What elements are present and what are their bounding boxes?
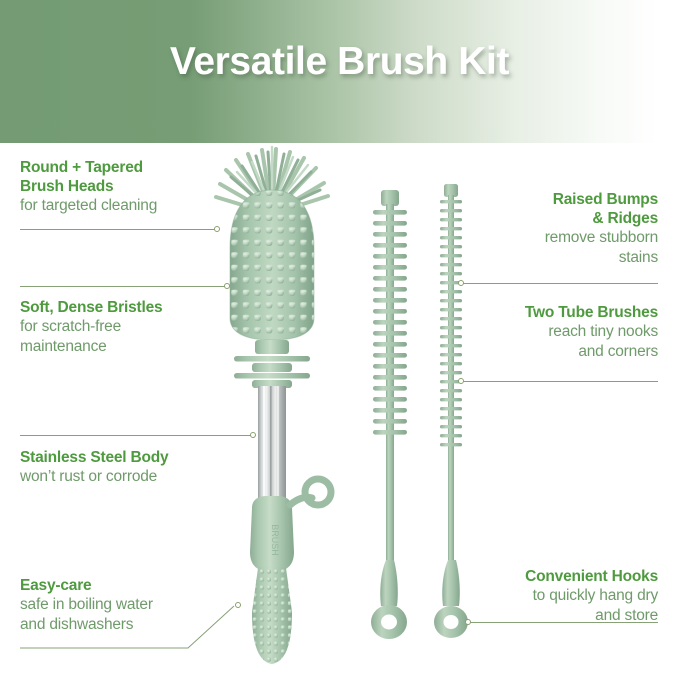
stainless-steel-rod (258, 386, 286, 508)
callout-brush-heads-heading-line2: Brush Heads (20, 177, 220, 196)
callout-bumps-ridges-sub-line2: stains (428, 248, 658, 268)
handle-emboss: BRUSH (270, 524, 280, 556)
callout-stainless-heading: Stainless Steel Body (20, 448, 240, 467)
callout-stainless-sub: won’t rust or corrode (20, 467, 240, 487)
callout-hooks-heading: Convenient Hooks (418, 567, 658, 586)
leader-dot-bristles (224, 283, 230, 289)
leader-line-tube-brushes (463, 381, 658, 382)
callout-bumps-ridges-heading-line2: & Ridges (428, 209, 658, 228)
handle-hang-loop (290, 479, 331, 505)
leader-dot-easy-care (235, 602, 241, 608)
callout-brush-heads: Round + Tapered Brush Heads for targeted… (20, 158, 220, 216)
callout-tube-brushes-sub-line2: and corners (428, 342, 658, 362)
callout-brush-heads-sub: for targeted cleaning (20, 196, 220, 216)
callout-stainless: Stainless Steel Body won’t rust or corro… (20, 448, 240, 487)
callout-bristles-heading: Soft, Dense Bristles (20, 298, 230, 317)
leader-line-stainless (20, 435, 252, 436)
callout-tube-brushes: Two Tube Brushes reach tiny nooks and co… (428, 303, 658, 361)
callout-hooks: Convenient Hooks to quickly hang dry and… (418, 567, 658, 625)
brush-collar (255, 340, 289, 354)
leader-dot-hooks (465, 619, 471, 625)
tube-brush-large-cap (381, 190, 399, 206)
callout-tube-brushes-heading: Two Tube Brushes (428, 303, 658, 322)
tube-brush-large-shaft (386, 204, 394, 604)
leader-line-brush-heads (20, 229, 216, 230)
leader-line-bumps-ridges (463, 283, 658, 284)
callout-bumps-ridges-heading-line1: Raised Bumps (428, 190, 658, 209)
callout-bristles-sub-line1: for scratch-free (20, 317, 230, 337)
tube-brush-large-ridges (373, 210, 407, 435)
callout-tube-brushes-sub-line1: reach tiny nooks (428, 322, 658, 342)
leader-dot-bumps-ridges (458, 280, 464, 286)
leader-line-hooks (470, 622, 658, 623)
leader-line-easy-care (0, 590, 260, 660)
leader-dot-stainless (250, 432, 256, 438)
tube-brush-large-hook (371, 560, 407, 639)
collar-ridges (234, 356, 310, 388)
callout-bristles: Soft, Dense Bristles for scratch-free ma… (20, 298, 230, 356)
callout-hooks-sub-line1: to quickly hang dry (418, 586, 658, 606)
callout-bumps-ridges-sub-line1: remove stubborn (428, 228, 658, 248)
leader-dot-tube-brushes (458, 378, 464, 384)
leader-dot-brush-heads (214, 226, 220, 232)
leader-line-bristles (20, 286, 226, 287)
callout-bumps-ridges: Raised Bumps & Ridges remove stubborn st… (428, 190, 658, 267)
tube-brush-large (371, 190, 407, 639)
callout-bristles-sub-line2: maintenance (20, 337, 230, 357)
infographic-canvas: Versatile Brush Kit (0, 0, 679, 679)
callout-brush-heads-heading-line1: Round + Tapered (20, 158, 220, 177)
